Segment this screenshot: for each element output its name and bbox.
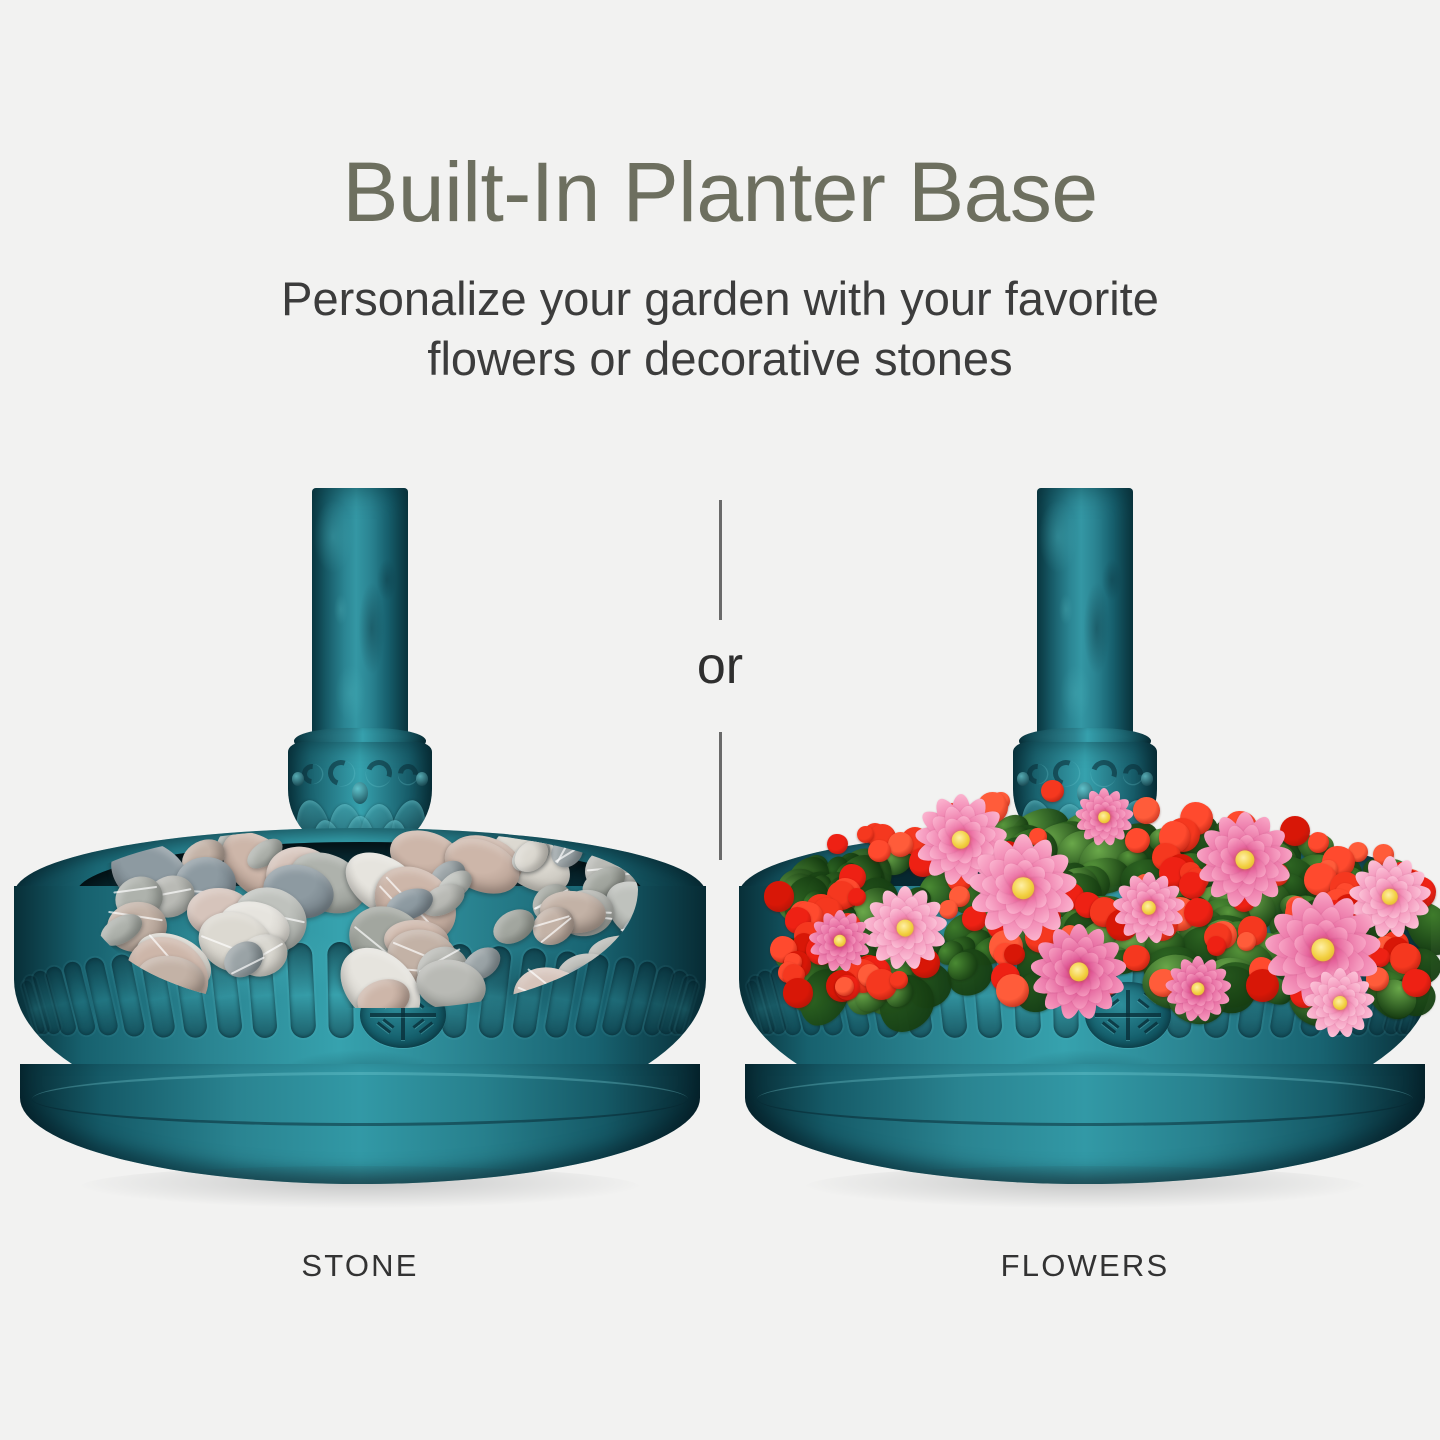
zinnia-flower — [863, 886, 947, 970]
lamp-post — [1037, 488, 1133, 758]
planter-shadow — [805, 1166, 1365, 1208]
stone-fill — [82, 828, 638, 1008]
zinnia-flower — [1031, 924, 1127, 1020]
impatiens-flower — [1123, 945, 1149, 971]
product-feature-graphic: Built-In Planter Base Personalize your g… — [0, 0, 1440, 1440]
zinnia-flower — [1165, 956, 1231, 1022]
medallion-ray — [377, 1021, 391, 1033]
page-title: Built-In Planter Base — [0, 144, 1440, 240]
panel-stone — [10, 460, 710, 1260]
bowl-flute — [643, 965, 676, 1037]
divider-line-bottom — [719, 732, 722, 860]
flower-fill — [745, 760, 1425, 1060]
bowl-flute — [623, 960, 658, 1037]
panel-flowers — [735, 460, 1435, 1260]
collar-knob-left — [292, 772, 304, 786]
impatiens-flower — [888, 832, 913, 857]
collar-scroll-right — [362, 756, 397, 791]
bowl-flute — [84, 956, 120, 1037]
zinnia-flower — [1305, 968, 1375, 1038]
zinnia-center — [1333, 996, 1347, 1010]
impatiens-flower — [868, 840, 890, 862]
medallion-ray — [382, 1018, 394, 1028]
impatiens-flower — [857, 826, 874, 843]
zinnia-flower — [1075, 788, 1133, 846]
impatiens-flower — [764, 881, 794, 911]
impatiens-flower — [1041, 780, 1064, 803]
zinnia-center — [1098, 811, 1110, 823]
bowl-flute — [669, 974, 697, 1035]
medallion-ray — [419, 1021, 433, 1033]
bowl-flute — [20, 979, 45, 1034]
bowl-flute — [62, 960, 97, 1037]
impatiens-flower — [1133, 797, 1160, 824]
caption-stone: STONE — [10, 1248, 710, 1284]
bowl-flute — [44, 965, 77, 1037]
collar-bead-center — [352, 782, 368, 804]
bowl-flute — [23, 974, 51, 1035]
bowl-flute — [32, 969, 63, 1035]
zinnia-center — [897, 920, 914, 937]
planter-lip — [32, 1072, 688, 1126]
page-subtitle: Personalize your garden with your favori… — [220, 269, 1220, 389]
planter-lip — [757, 1072, 1413, 1126]
bowl-flute — [675, 979, 700, 1034]
impatiens-flower — [1207, 936, 1227, 956]
zinnia-flower — [809, 910, 871, 972]
stone-vein — [555, 843, 583, 861]
collar-knob-right — [416, 772, 428, 786]
stone-vein — [113, 886, 157, 894]
impatiens-flower — [783, 978, 812, 1007]
medallion-ray — [412, 1018, 424, 1028]
bowl-flute — [658, 969, 689, 1035]
zinnia-center — [1012, 877, 1034, 899]
lamp-post — [312, 488, 408, 758]
impatiens-flower — [890, 971, 907, 988]
divider-line-top — [719, 500, 722, 620]
medallion-ray — [370, 1013, 436, 1017]
impatiens-flower — [827, 834, 848, 855]
caption-flowers: FLOWERS — [735, 1248, 1435, 1284]
stone-vein — [517, 987, 585, 1008]
planter-shadow — [80, 1166, 640, 1208]
